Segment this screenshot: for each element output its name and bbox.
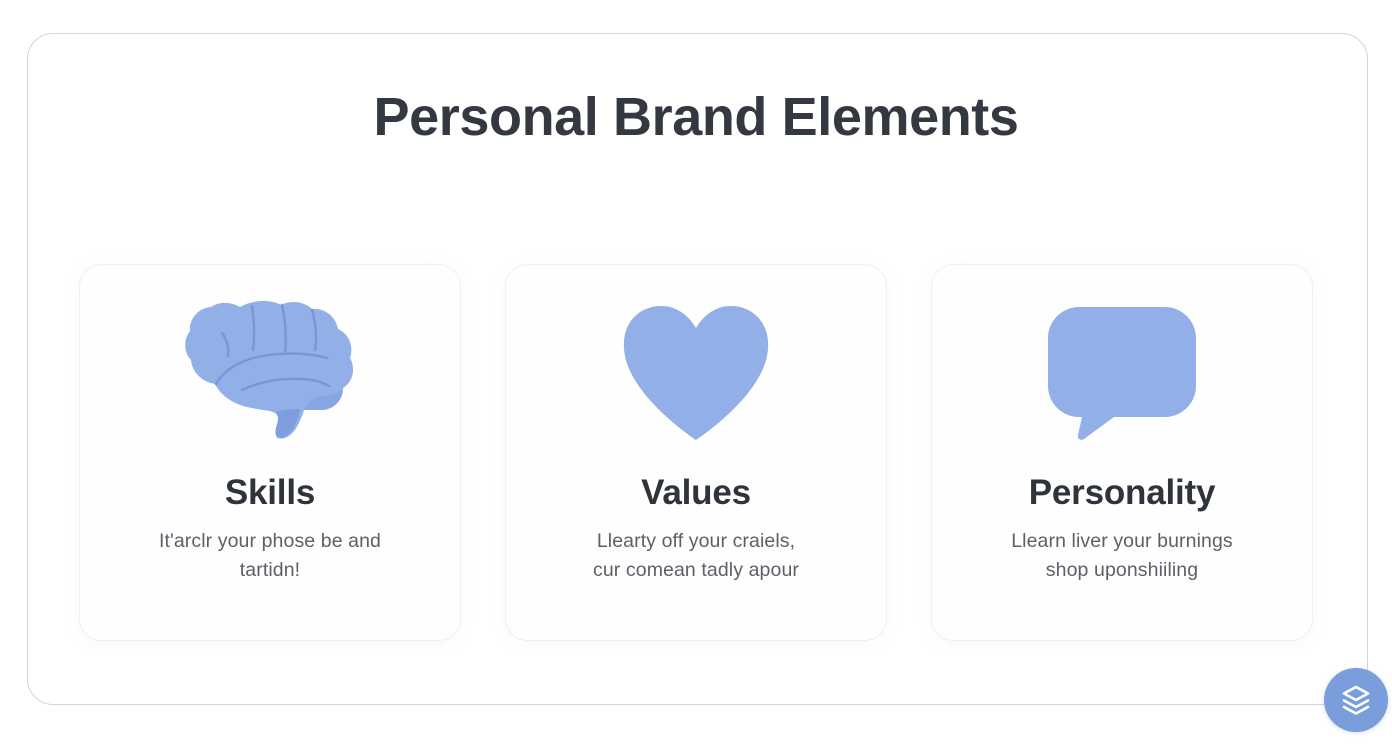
card-description: Llearty off your craiels, cur comean tad…: [546, 527, 846, 586]
cards-row: Skills It'arclr your phose be and tartid…: [80, 265, 1312, 640]
card-description-line1: Llearn liver your burnings: [972, 527, 1272, 556]
card-description: It'arclr your phose be and tartidn!: [120, 527, 420, 586]
card-description-line1: Llearty off your craiels,: [546, 527, 846, 556]
card-heading: Skills: [225, 474, 315, 513]
card-description: Llearn liver your burnings shop uponshii…: [972, 527, 1272, 586]
card-values[interactable]: Values Llearty off your craiels, cur com…: [506, 265, 886, 640]
card-skills[interactable]: Skills It'arclr your phose be and tartid…: [80, 265, 460, 640]
layers-stack-icon: [1338, 682, 1374, 718]
brain-icon-wrapper: [182, 285, 358, 460]
card-description-line2: cur comean tadly apour: [546, 556, 846, 585]
card-heading: Values: [641, 474, 751, 513]
speech-bubble-icon-wrapper: [1044, 285, 1200, 460]
card-description-line2: shop uponshiiling: [972, 556, 1272, 585]
speech-bubble-icon: [1044, 303, 1200, 443]
card-heading: Personality: [1029, 474, 1216, 513]
card-description-line1: It'arclr your phose be and: [120, 527, 420, 556]
heart-icon-wrapper: [619, 285, 773, 460]
brain-icon: [182, 298, 358, 448]
page-title: Personal Brand Elements: [0, 86, 1392, 148]
card-description-line2: tartidn!: [120, 556, 420, 585]
heart-icon: [619, 303, 773, 443]
slide-canvas: Personal Brand Elements: [0, 0, 1392, 752]
card-personality[interactable]: Personality Llearn liver your burnings s…: [932, 265, 1312, 640]
layers-stack-logo-badge[interactable]: [1324, 668, 1388, 732]
